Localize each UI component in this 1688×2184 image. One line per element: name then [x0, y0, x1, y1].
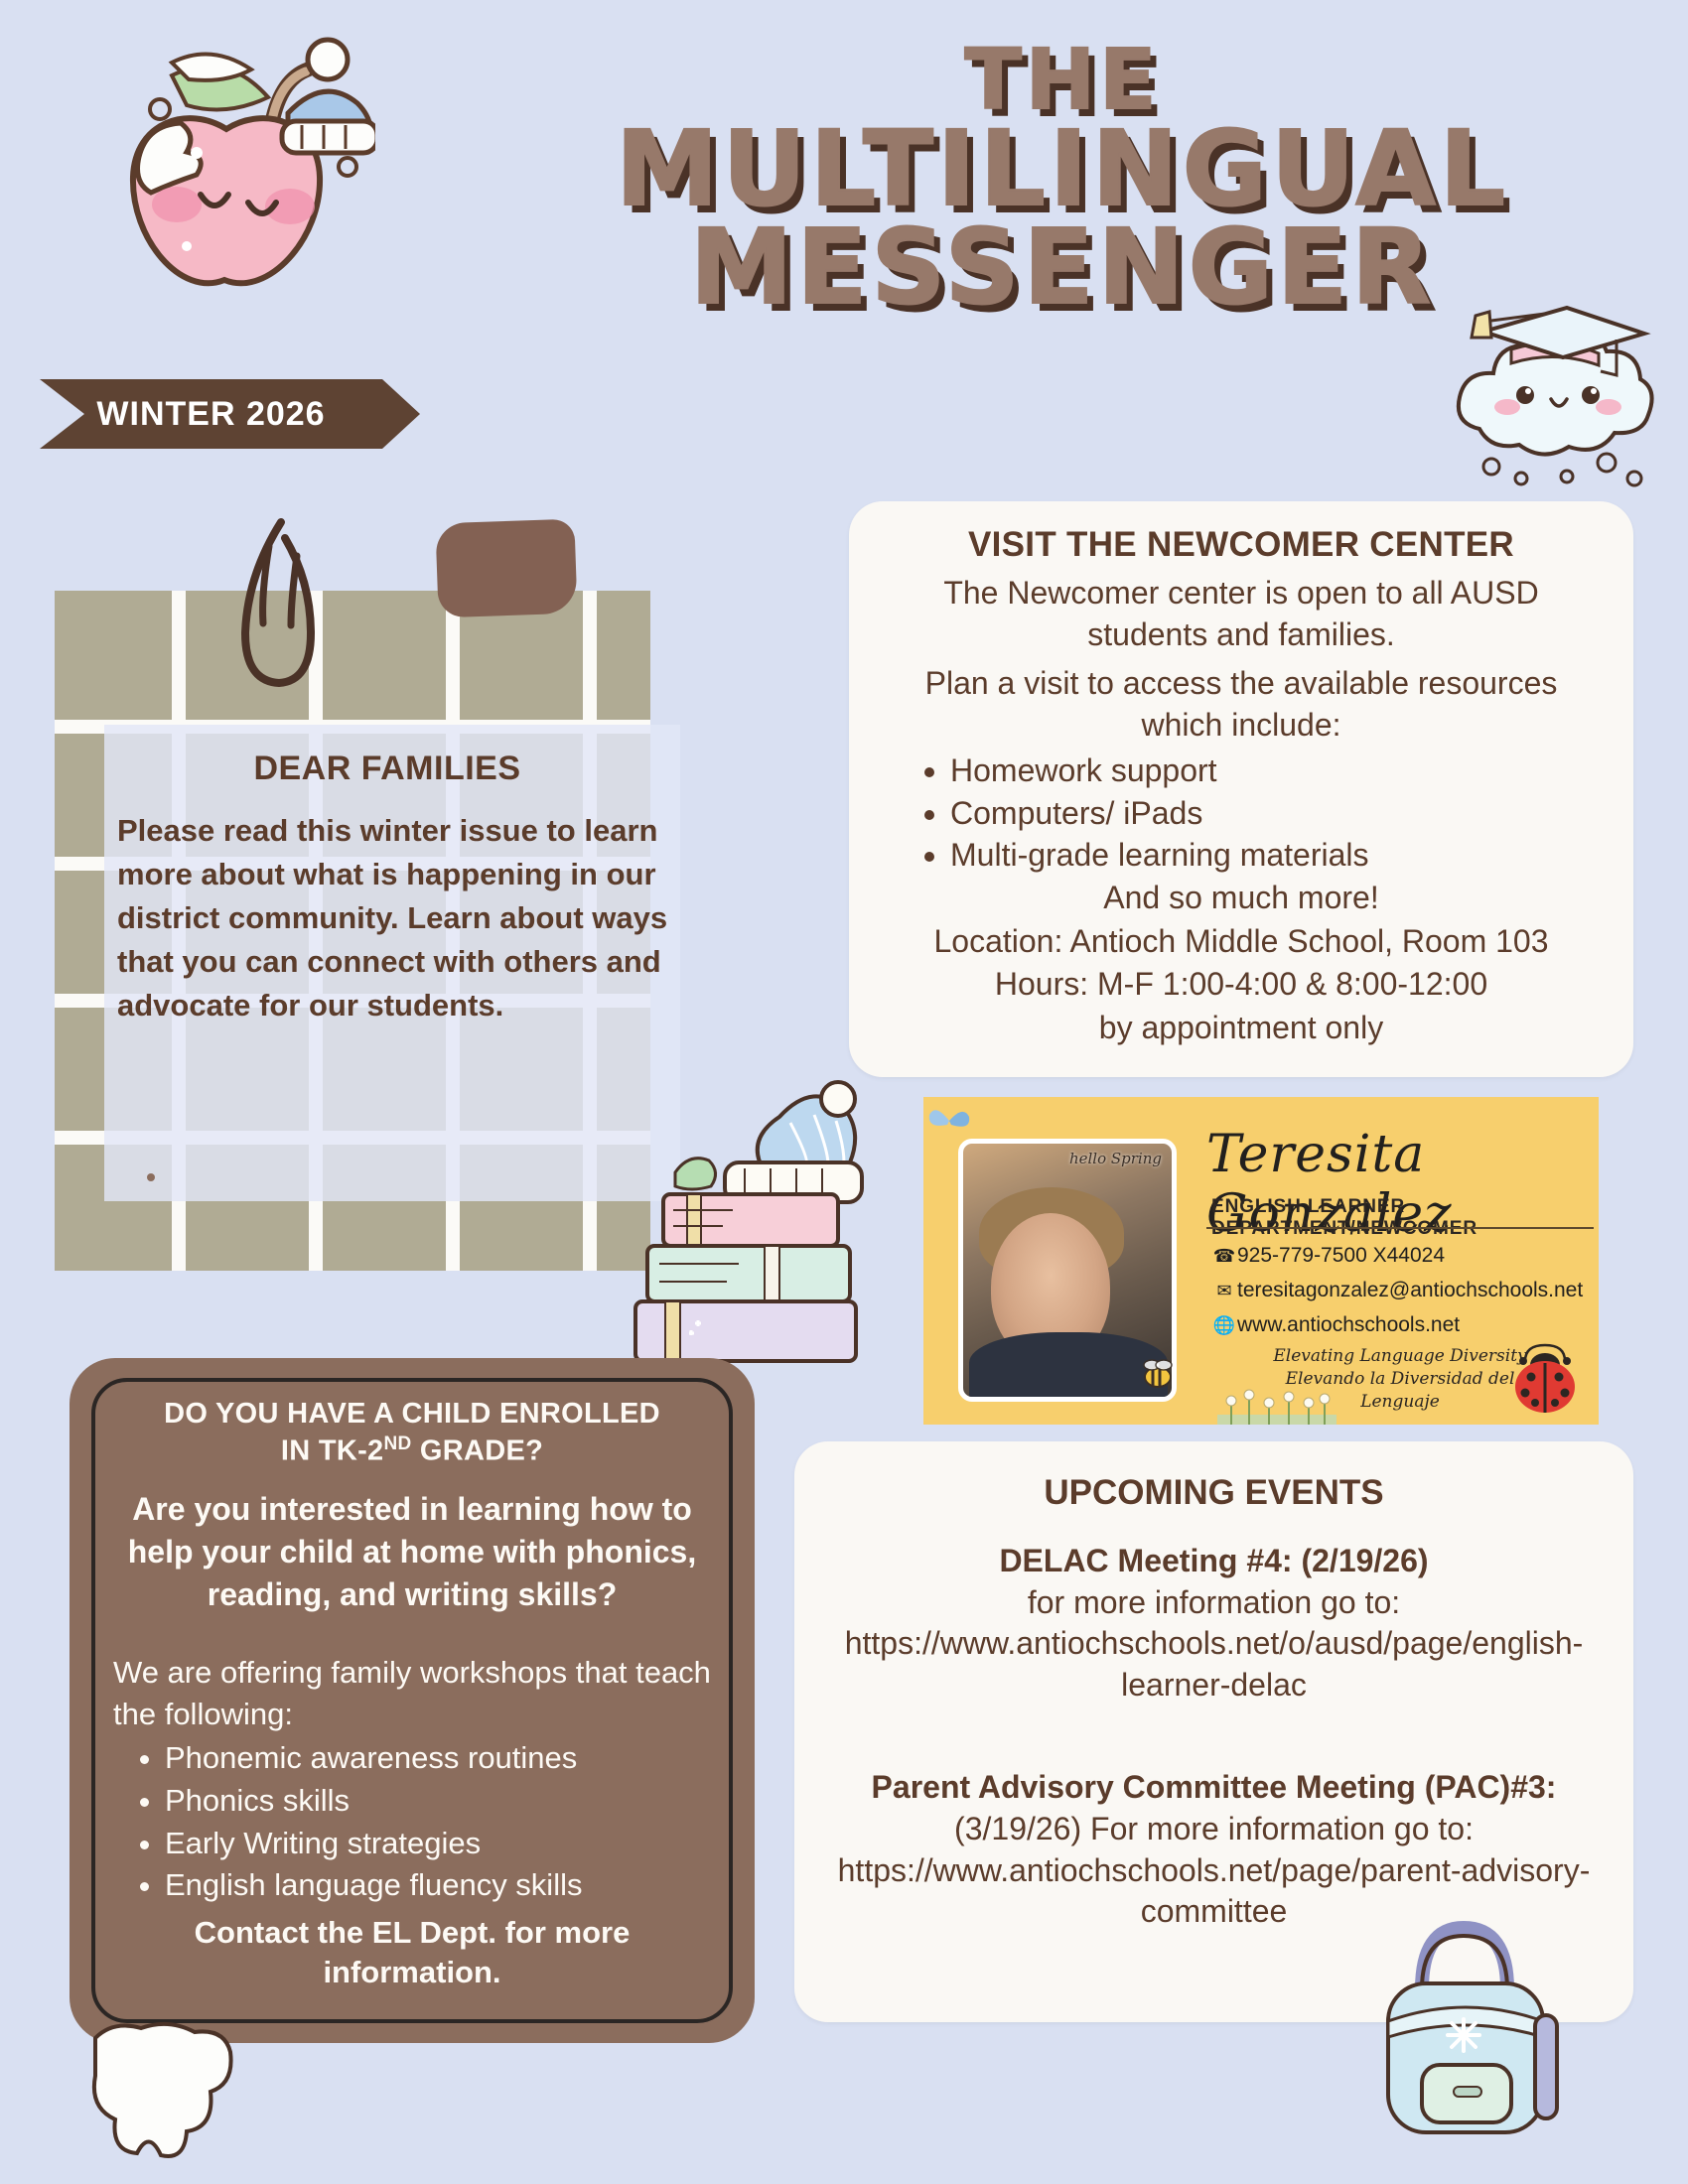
newcomer-intro-2: Plan a visit to access the available res… [883, 663, 1600, 746]
website-value: www.antiochschools.net [1237, 1313, 1460, 1337]
newcomer-intro-1: The Newcomer center is open to all AUSD … [883, 573, 1600, 655]
newcomer-location: Location: Antioch Middle School, Room 10… [869, 921, 1614, 963]
dear-families-body: Please read this winter issue to learn m… [117, 809, 673, 1027]
family-workshops-card: DO YOU HAVE A CHILD ENROLLED IN TK-2ND G… [70, 1358, 755, 2043]
phone-icon: ☎ [1211, 1246, 1237, 1267]
title-line-2: MULTILINGUAL [516, 120, 1609, 219]
butterfly-icon [927, 1101, 971, 1141]
graduation-cloud-icon [1440, 288, 1668, 506]
email-value: teresitagonzalez@antiochschools.net [1237, 1279, 1583, 1302]
issue-badge-tail [382, 379, 420, 449]
event-url[interactable]: https://www.antiochschools.net/o/ausd/pa… [808, 1623, 1619, 1706]
newcomer-appointment: by appointment only [869, 1008, 1614, 1049]
phone-value: 925-779-7500 X44024 [1237, 1244, 1445, 1268]
page-title: THE MULTILINGUAL MESSENGER [516, 40, 1609, 318]
issue-badge: WINTER 2026 [40, 379, 382, 449]
newcomer-center-card: VISIT THE NEWCOMER CENTER The Newcomer c… [849, 501, 1633, 1077]
newcomer-hours: Hours: M-F 1:00-4:00 & 8:00-12:00 [869, 964, 1614, 1006]
envelope-icon: ✉ [1211, 1281, 1237, 1301]
backpack-icon [1360, 1906, 1569, 2154]
winter-apple-icon [77, 18, 375, 316]
contact-website-row: 🌐 www.antiochschools.net [1211, 1313, 1589, 1337]
snow-drift-icon [89, 2020, 238, 2164]
divider [1206, 1227, 1594, 1229]
tape-blob-icon [435, 519, 577, 618]
contact-phone-row: ☎ 925-779-7500 X44024 [1211, 1244, 1589, 1268]
winter-books-stack-icon [616, 1077, 874, 1405]
list-item: Homework support [950, 750, 1633, 791]
bullet-dot-decor [147, 1173, 155, 1181]
contact-email-row: ✉ teresitagonzalez@antiochschools.net [1211, 1279, 1589, 1302]
event-item: DELAC Meeting #4: (2/19/26) for more inf… [808, 1541, 1619, 1706]
issue-badge-label: WINTER 2026 [96, 395, 325, 434]
spacer [794, 1706, 1633, 1739]
event-note: for more information go to: [808, 1582, 1619, 1624]
newcomer-heading: VISIT THE NEWCOMER CENTER [849, 501, 1633, 565]
list-item: Multi-grade learning materials [950, 834, 1633, 876]
event-title: DELAC Meeting #4: (2/19/26) [808, 1541, 1619, 1582]
contact-info: ☎ 925-779-7500 X44024 ✉ teresitagonzalez… [1211, 1244, 1589, 1348]
event-note: (3/19/26) For more information go to: [808, 1809, 1619, 1850]
flowers-icon [1217, 1385, 1336, 1425]
newsletter-page: THE MULTILINGUAL MESSENGER WINTER 2026 [0, 0, 1688, 2184]
staff-business-card: hello Spring Teresita Gonzalez ENGLISH L… [923, 1097, 1599, 1425]
newcomer-more: And so much more! [869, 878, 1614, 919]
staff-department: ENGLISH LEARNER DEPARTMENT/NEWCOMER [1211, 1196, 1599, 1240]
event-title: Parent Advisory Committee Meeting (PAC)#… [808, 1767, 1619, 1809]
paperclip-icon [223, 516, 333, 695]
globe-icon: 🌐 [1211, 1315, 1237, 1336]
ladybug-icon [1503, 1339, 1587, 1415]
card-inner-border [91, 1378, 733, 2023]
bee-icon [1138, 1357, 1178, 1391]
events-heading: UPCOMING EVENTS [794, 1441, 1633, 1513]
newcomer-resource-list: Homework support Computers/ iPads Multi-… [905, 750, 1633, 876]
photo-overlay-text: hello Spring [1069, 1152, 1162, 1167]
dear-families-heading: DEAR FAMILIES [119, 750, 655, 788]
list-item: Computers/ iPads [950, 792, 1633, 834]
